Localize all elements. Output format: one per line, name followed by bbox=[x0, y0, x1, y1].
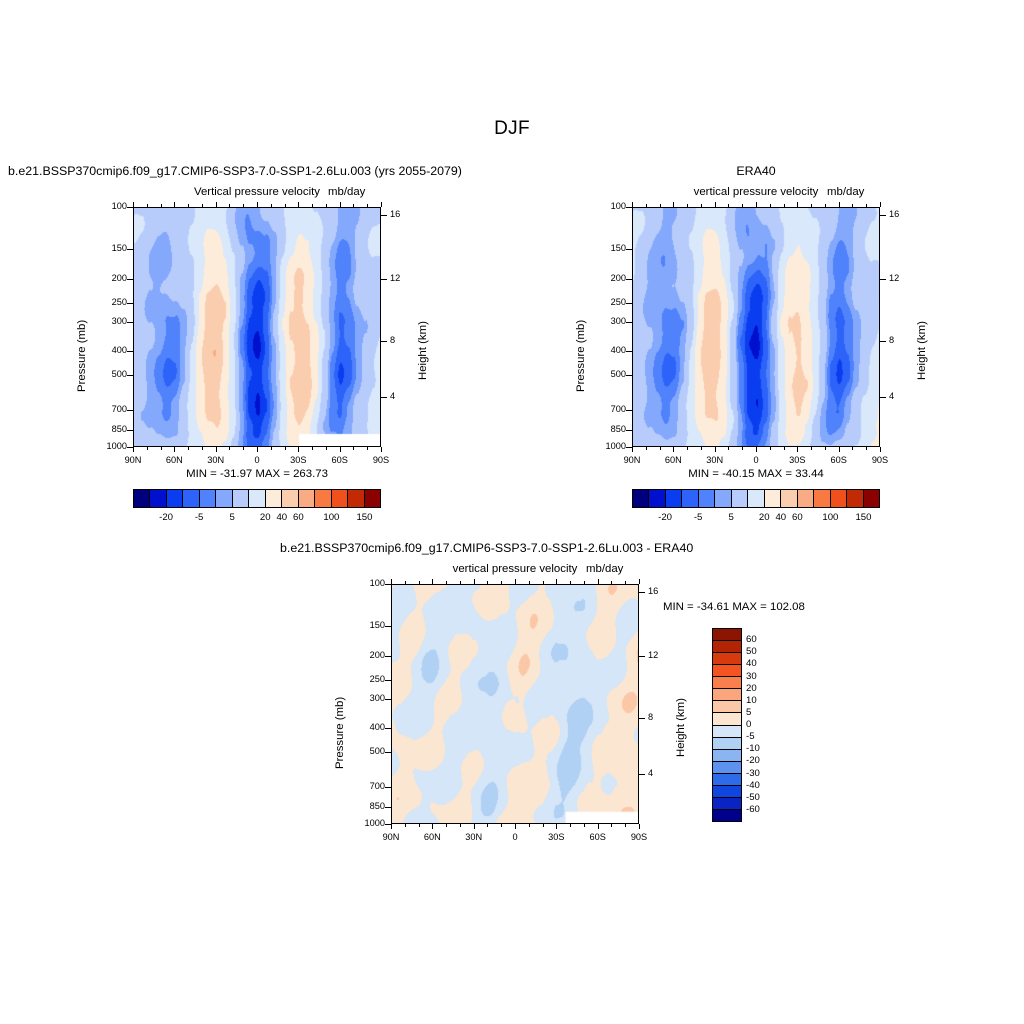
x-tick-minor-top bbox=[570, 581, 571, 584]
x-tick-minor-top bbox=[202, 204, 203, 207]
x-tick-mark-bottom bbox=[756, 447, 757, 452]
x-tick-minor-bottom bbox=[405, 824, 406, 827]
x-tick-minor-top bbox=[446, 581, 447, 584]
x-tick-minor-bottom bbox=[312, 447, 313, 450]
y-tick-mark bbox=[127, 207, 133, 208]
x-tick-minor-top bbox=[460, 581, 461, 584]
colorbar-cell bbox=[713, 738, 741, 750]
colorbar-cell bbox=[713, 750, 741, 762]
colorbar-cell bbox=[713, 810, 741, 821]
x-tick-minor-bottom bbox=[625, 824, 626, 827]
y2-tick-label: 16 bbox=[390, 209, 414, 219]
x-tick-minor-top bbox=[742, 204, 743, 207]
y-tick-label: 200 bbox=[351, 650, 385, 660]
colorbar-tick-label: 20 bbox=[746, 683, 782, 694]
y-tick-label: 500 bbox=[351, 746, 385, 756]
colorbar-cell bbox=[831, 490, 847, 507]
colorbar-cell bbox=[765, 490, 781, 507]
y-tick-label: 300 bbox=[351, 693, 385, 703]
x-tick-minor-top bbox=[229, 204, 230, 207]
x-tick-mark-top bbox=[257, 202, 258, 207]
x-tick-label: 30N bbox=[198, 455, 234, 465]
x-tick-mark-top bbox=[839, 202, 840, 207]
y-tick-mark bbox=[385, 787, 391, 788]
x-tick-minor-top bbox=[501, 581, 502, 584]
colorbar-obs[interactable] bbox=[632, 489, 880, 508]
y-tick-label: 1000 bbox=[592, 441, 626, 451]
x-tick-minor-bottom bbox=[646, 447, 647, 450]
x-tick-minor-bottom bbox=[660, 447, 661, 450]
x-tick-minor-bottom bbox=[529, 824, 530, 827]
x-tick-label: 0 bbox=[497, 832, 533, 842]
x-tick-minor-top bbox=[326, 204, 327, 207]
x-tick-minor-bottom bbox=[243, 447, 244, 450]
x-tick-mark-top bbox=[756, 202, 757, 207]
y2-tick-mark bbox=[639, 592, 645, 593]
x-tick-minor-top bbox=[770, 204, 771, 207]
panel-model-minmax: MIN = -31.97 MAX = 263.73 bbox=[133, 468, 381, 480]
x-tick-mark-top bbox=[174, 202, 175, 207]
x-tick-minor-bottom bbox=[825, 447, 826, 450]
colorbar-cell bbox=[216, 490, 232, 507]
x-tick-mark-top bbox=[133, 202, 134, 207]
x-tick-label: 0 bbox=[738, 455, 774, 465]
y-tick-label: 500 bbox=[93, 369, 127, 379]
y-tick-label: 1000 bbox=[351, 818, 385, 828]
x-tick-minor-top bbox=[285, 204, 286, 207]
x-tick-minor-bottom bbox=[419, 824, 420, 827]
y-tick-mark bbox=[385, 584, 391, 585]
x-tick-minor-bottom bbox=[570, 824, 571, 827]
x-tick-minor-bottom bbox=[353, 447, 354, 450]
colorbar-diff-labels: 60504030201050-5-10-20-30-40-50-60 bbox=[746, 628, 786, 822]
colorbar-cell bbox=[748, 490, 764, 507]
y-tick-mark bbox=[385, 680, 391, 681]
y-tick-label: 400 bbox=[93, 345, 127, 355]
colorbar-cell bbox=[282, 490, 298, 507]
x-tick-label: 60S bbox=[821, 455, 857, 465]
colorbar-tick-label: -5 bbox=[746, 731, 782, 742]
x-tick-minor-top bbox=[487, 581, 488, 584]
x-tick-minor-bottom bbox=[285, 447, 286, 450]
colorbar-cell bbox=[798, 490, 814, 507]
x-tick-minor-bottom bbox=[147, 447, 148, 450]
x-tick-mark-bottom bbox=[839, 447, 840, 452]
x-tick-mark-bottom bbox=[474, 824, 475, 829]
x-tick-minor-top bbox=[687, 204, 688, 207]
y2-tick-mark bbox=[381, 341, 387, 342]
x-tick-label: 30S bbox=[538, 832, 574, 842]
y2-tick-mark bbox=[381, 397, 387, 398]
y-tick-mark bbox=[127, 249, 133, 250]
colorbar-cell bbox=[713, 653, 741, 665]
y2-tick-label: 8 bbox=[889, 335, 913, 345]
colorbar-cell bbox=[713, 665, 741, 677]
colorbar-cell bbox=[150, 490, 166, 507]
colorbar-cell bbox=[249, 490, 265, 507]
y-tick-label: 300 bbox=[592, 316, 626, 326]
x-tick-minor-bottom bbox=[742, 447, 743, 450]
x-tick-label: 90S bbox=[363, 455, 399, 465]
y2-tick-mark bbox=[381, 279, 387, 280]
y-tick-mark bbox=[626, 249, 632, 250]
x-tick-minor-bottom bbox=[701, 447, 702, 450]
x-tick-minor-top bbox=[543, 581, 544, 584]
colorbar-diff[interactable] bbox=[712, 628, 742, 822]
x-tick-mark-bottom bbox=[298, 447, 299, 452]
colorbar-cell bbox=[713, 762, 741, 774]
x-tick-mark-bottom bbox=[391, 824, 392, 829]
colorbar-cell bbox=[713, 798, 741, 810]
y-tick-mark bbox=[626, 430, 632, 431]
y-tick-label: 400 bbox=[592, 345, 626, 355]
panel-model-case-title: b.e21.BSSP370cmip6.f09_g17.CMIP6-SSP3-7.… bbox=[8, 164, 462, 178]
y2-tick-label: 8 bbox=[390, 335, 414, 345]
colorbar-tick-label: -50 bbox=[746, 792, 782, 803]
colorbar-cell bbox=[682, 490, 698, 507]
x-tick-mark-bottom bbox=[133, 447, 134, 452]
x-tick-minor-bottom bbox=[501, 824, 502, 827]
x-tick-minor-top bbox=[625, 581, 626, 584]
x-tick-mark-bottom bbox=[340, 447, 341, 452]
panel-obs-subtitle-units: mb/day bbox=[827, 186, 864, 198]
x-tick-mark-top bbox=[515, 579, 516, 584]
y2-tick-label: 8 bbox=[648, 712, 672, 722]
x-tick-minor-top bbox=[866, 204, 867, 207]
colorbar-tick-label: -30 bbox=[746, 768, 782, 779]
x-tick-mark-top bbox=[298, 202, 299, 207]
x-tick-minor-bottom bbox=[784, 447, 785, 450]
y-tick-label: 150 bbox=[351, 620, 385, 630]
colorbar-cell bbox=[713, 701, 741, 713]
x-tick-minor-top bbox=[701, 204, 702, 207]
x-tick-minor-top bbox=[646, 204, 647, 207]
x-tick-mark-top bbox=[673, 202, 674, 207]
colorbar-cell bbox=[666, 490, 682, 507]
x-tick-minor-bottom bbox=[611, 824, 612, 827]
y-tick-label: 200 bbox=[592, 273, 626, 283]
x-tick-mark-top bbox=[715, 202, 716, 207]
y2-tick-label: 16 bbox=[648, 586, 672, 596]
colorbar-tick-label: 0 bbox=[746, 719, 782, 730]
x-tick-minor-bottom bbox=[770, 447, 771, 450]
x-tick-mark-top bbox=[632, 202, 633, 207]
colorbar-cell bbox=[814, 490, 830, 507]
x-tick-mark-top bbox=[216, 202, 217, 207]
colorbar-cell bbox=[713, 641, 741, 653]
x-tick-minor-top bbox=[161, 204, 162, 207]
x-tick-mark-bottom bbox=[216, 447, 217, 452]
x-tick-minor-top bbox=[188, 204, 189, 207]
y2-tick-mark bbox=[639, 774, 645, 775]
colorbar-cell bbox=[266, 490, 282, 507]
x-tick-minor-top bbox=[271, 204, 272, 207]
x-tick-minor-top bbox=[728, 204, 729, 207]
figure-title: DJF bbox=[0, 118, 1024, 140]
y-tick-mark bbox=[127, 430, 133, 431]
y-tick-label: 850 bbox=[93, 424, 127, 434]
y-tick-mark bbox=[385, 728, 391, 729]
y2-tick-mark bbox=[880, 341, 886, 342]
y-tick-mark bbox=[127, 410, 133, 411]
y-tick-label: 1000 bbox=[93, 441, 127, 451]
colorbar-tick-label: 40 bbox=[746, 658, 782, 669]
x-tick-minor-bottom bbox=[543, 824, 544, 827]
y-tick-label: 250 bbox=[93, 297, 127, 307]
colorbar-tick-label: -10 bbox=[746, 743, 782, 754]
plot-area-obs[interactable] bbox=[632, 207, 880, 447]
x-tick-minor-bottom bbox=[866, 447, 867, 450]
y2-tick-mark bbox=[639, 656, 645, 657]
colorbar-labels-model: -20-55204060100150 bbox=[133, 512, 381, 526]
y-tick-label: 850 bbox=[351, 801, 385, 811]
colorbar-tick-label: 5 bbox=[746, 707, 782, 718]
colorbar-tick-label: 60 bbox=[746, 634, 782, 645]
colorbar-tick-label: -60 bbox=[746, 804, 782, 815]
panel-diff-y2label: Height (km) bbox=[675, 698, 687, 757]
y-tick-mark bbox=[626, 303, 632, 304]
colorbar-cell bbox=[713, 689, 741, 701]
colorbar-tick-label: -20 bbox=[746, 755, 782, 766]
x-tick-minor-bottom bbox=[271, 447, 272, 450]
colorbar-cell bbox=[864, 490, 879, 507]
colorbar-tick-label: 10 bbox=[746, 695, 782, 706]
x-tick-label: 30S bbox=[779, 455, 815, 465]
colorbar-cell bbox=[713, 786, 741, 798]
colorbar-model[interactable] bbox=[133, 489, 381, 508]
x-tick-minor-bottom bbox=[367, 447, 368, 450]
colorbar-cell bbox=[847, 490, 863, 507]
x-tick-mark-bottom bbox=[880, 447, 881, 452]
y-tick-label: 250 bbox=[592, 297, 626, 307]
x-tick-mark-bottom bbox=[632, 447, 633, 452]
y-tick-label: 250 bbox=[351, 674, 385, 684]
x-tick-mark-top bbox=[556, 579, 557, 584]
colorbar-tick-label: 50 bbox=[746, 646, 782, 657]
x-tick-minor-bottom bbox=[161, 447, 162, 450]
x-tick-mark-top bbox=[381, 202, 382, 207]
x-tick-minor-bottom bbox=[460, 824, 461, 827]
panel-obs-y2label: Height (km) bbox=[916, 321, 928, 380]
colorbar-tick-label: 30 bbox=[746, 671, 782, 682]
x-tick-mark-bottom bbox=[598, 824, 599, 829]
colorbar-tick-label: -40 bbox=[746, 780, 782, 791]
y-tick-mark bbox=[127, 303, 133, 304]
y-tick-label: 150 bbox=[592, 243, 626, 253]
y-tick-mark bbox=[385, 699, 391, 700]
x-tick-mark-top bbox=[340, 202, 341, 207]
colorbar-cell bbox=[699, 490, 715, 507]
colorbar-labels-obs: -20-55204060100150 bbox=[632, 512, 880, 526]
colorbar-cell bbox=[167, 490, 183, 507]
colorbar-cell bbox=[713, 726, 741, 738]
x-tick-minor-bottom bbox=[811, 447, 812, 450]
x-tick-label: 30N bbox=[697, 455, 733, 465]
colorbar-cell bbox=[134, 490, 150, 507]
x-tick-mark-top bbox=[391, 579, 392, 584]
x-tick-minor-top bbox=[825, 204, 826, 207]
panel-model-y2label: Height (km) bbox=[417, 321, 429, 380]
y-tick-mark bbox=[626, 322, 632, 323]
colorbar-cell bbox=[299, 490, 315, 507]
x-tick-label: 60N bbox=[156, 455, 192, 465]
x-tick-mark-top bbox=[797, 202, 798, 207]
panel-obs-ylabel: Pressure (mb) bbox=[575, 320, 587, 392]
colorbar-cell bbox=[183, 490, 199, 507]
y-tick-mark bbox=[385, 752, 391, 753]
plot-area-diff[interactable] bbox=[391, 584, 639, 824]
contour-canvas bbox=[633, 208, 880, 447]
panel-obs-minmax: MIN = -40.15 MAX = 33.44 bbox=[632, 468, 880, 480]
x-tick-mark-bottom bbox=[715, 447, 716, 452]
colorbar-cell bbox=[332, 490, 348, 507]
colorbar-cell bbox=[732, 490, 748, 507]
y-tick-mark bbox=[385, 807, 391, 808]
x-tick-minor-bottom bbox=[202, 447, 203, 450]
y-tick-mark bbox=[385, 656, 391, 657]
y-tick-mark bbox=[626, 375, 632, 376]
x-tick-minor-top bbox=[584, 581, 585, 584]
x-tick-minor-top bbox=[419, 581, 420, 584]
x-tick-minor-top bbox=[147, 204, 148, 207]
x-tick-mark-bottom bbox=[515, 824, 516, 829]
colorbar-cell bbox=[649, 490, 665, 507]
x-tick-mark-bottom bbox=[673, 447, 674, 452]
x-tick-mark-bottom bbox=[639, 824, 640, 829]
y-tick-mark bbox=[626, 351, 632, 352]
colorbar-cell bbox=[713, 629, 741, 641]
x-tick-minor-bottom bbox=[188, 447, 189, 450]
y-tick-label: 400 bbox=[351, 722, 385, 732]
y-tick-label: 700 bbox=[351, 781, 385, 791]
colorbar-cell bbox=[633, 490, 649, 507]
colorbar-cell bbox=[713, 677, 741, 689]
y-tick-label: 700 bbox=[93, 404, 127, 414]
colorbar-cell bbox=[365, 490, 380, 507]
x-tick-mark-top bbox=[639, 579, 640, 584]
y-tick-label: 200 bbox=[93, 273, 127, 283]
colorbar-cell bbox=[715, 490, 731, 507]
panel-obs-title: ERA40 bbox=[632, 164, 880, 178]
panel-model-ylabel: Pressure (mb) bbox=[76, 320, 88, 392]
x-tick-minor-bottom bbox=[687, 447, 688, 450]
y-tick-label: 300 bbox=[93, 316, 127, 326]
y-tick-mark bbox=[127, 322, 133, 323]
x-tick-minor-top bbox=[852, 204, 853, 207]
x-tick-minor-top bbox=[660, 204, 661, 207]
x-tick-minor-top bbox=[405, 581, 406, 584]
contour-canvas bbox=[392, 585, 639, 824]
x-tick-minor-bottom bbox=[446, 824, 447, 827]
y-tick-mark bbox=[626, 410, 632, 411]
y2-tick-label: 16 bbox=[889, 209, 913, 219]
colorbar-cell bbox=[348, 490, 364, 507]
x-tick-mark-bottom bbox=[797, 447, 798, 452]
x-tick-mark-bottom bbox=[381, 447, 382, 452]
contour-canvas bbox=[134, 208, 381, 447]
x-tick-minor-bottom bbox=[584, 824, 585, 827]
y-tick-label: 150 bbox=[93, 243, 127, 253]
x-tick-mark-bottom bbox=[432, 824, 433, 829]
colorbar-tick-label: 150 bbox=[843, 512, 883, 523]
colorbar-cell bbox=[200, 490, 216, 507]
x-tick-label: 90S bbox=[621, 832, 657, 842]
x-tick-minor-top bbox=[243, 204, 244, 207]
x-tick-mark-top bbox=[880, 202, 881, 207]
panel-diff-ylabel: Pressure (mb) bbox=[334, 697, 346, 769]
x-tick-label: 60N bbox=[414, 832, 450, 842]
y-tick-mark bbox=[127, 351, 133, 352]
colorbar-tick-label: 150 bbox=[344, 512, 384, 523]
y2-tick-label: 12 bbox=[390, 273, 414, 283]
x-tick-label: 0 bbox=[239, 455, 275, 465]
x-tick-label: 90S bbox=[862, 455, 898, 465]
x-tick-minor-top bbox=[312, 204, 313, 207]
y-tick-mark bbox=[626, 207, 632, 208]
y-tick-mark bbox=[127, 375, 133, 376]
plot-area-model[interactable] bbox=[133, 207, 381, 447]
colorbar-cell bbox=[713, 713, 741, 725]
x-tick-minor-bottom bbox=[487, 824, 488, 827]
x-tick-minor-bottom bbox=[852, 447, 853, 450]
x-tick-label: 60S bbox=[322, 455, 358, 465]
panel-diff-subtitle-units: mb/day bbox=[586, 563, 623, 575]
y-tick-label: 500 bbox=[592, 369, 626, 379]
panel-model-subtitle-units: mb/day bbox=[328, 186, 365, 198]
y2-tick-mark bbox=[880, 215, 886, 216]
y-tick-label: 700 bbox=[592, 404, 626, 414]
y2-tick-mark bbox=[880, 397, 886, 398]
x-tick-mark-top bbox=[474, 579, 475, 584]
y2-tick-mark bbox=[639, 718, 645, 719]
x-tick-label: 90N bbox=[614, 455, 650, 465]
y-tick-label: 100 bbox=[93, 201, 127, 211]
panel-diff-case-title: b.e21.BSSP370cmip6.f09_g17.CMIP6-SSP3-7.… bbox=[280, 541, 693, 555]
x-tick-mark-top bbox=[598, 579, 599, 584]
x-tick-minor-top bbox=[367, 204, 368, 207]
x-tick-minor-top bbox=[611, 581, 612, 584]
x-tick-minor-top bbox=[529, 581, 530, 584]
y-tick-label: 850 bbox=[592, 424, 626, 434]
x-tick-label: 30S bbox=[280, 455, 316, 465]
y2-tick-mark bbox=[880, 279, 886, 280]
y2-tick-label: 4 bbox=[648, 768, 672, 778]
x-tick-mark-bottom bbox=[257, 447, 258, 452]
x-tick-minor-top bbox=[784, 204, 785, 207]
x-tick-mark-top bbox=[432, 579, 433, 584]
y-tick-mark bbox=[385, 626, 391, 627]
x-tick-minor-bottom bbox=[229, 447, 230, 450]
x-tick-minor-top bbox=[353, 204, 354, 207]
y-tick-mark bbox=[626, 279, 632, 280]
x-tick-label: 90N bbox=[115, 455, 151, 465]
y-tick-label: 100 bbox=[351, 578, 385, 588]
y2-tick-label: 12 bbox=[648, 650, 672, 660]
x-tick-label: 60N bbox=[655, 455, 691, 465]
x-tick-label: 90N bbox=[373, 832, 409, 842]
colorbar-cell bbox=[233, 490, 249, 507]
y2-tick-label: 4 bbox=[390, 391, 414, 401]
colorbar-cell bbox=[713, 774, 741, 786]
colorbar-cell bbox=[781, 490, 797, 507]
y2-tick-label: 12 bbox=[889, 273, 913, 283]
x-tick-mark-bottom bbox=[556, 824, 557, 829]
colorbar-cell bbox=[315, 490, 331, 507]
x-tick-mark-bottom bbox=[174, 447, 175, 452]
x-tick-minor-bottom bbox=[326, 447, 327, 450]
y-tick-mark bbox=[127, 279, 133, 280]
panel-diff-minmax: MIN = -34.61 MAX = 102.08 bbox=[663, 601, 805, 613]
